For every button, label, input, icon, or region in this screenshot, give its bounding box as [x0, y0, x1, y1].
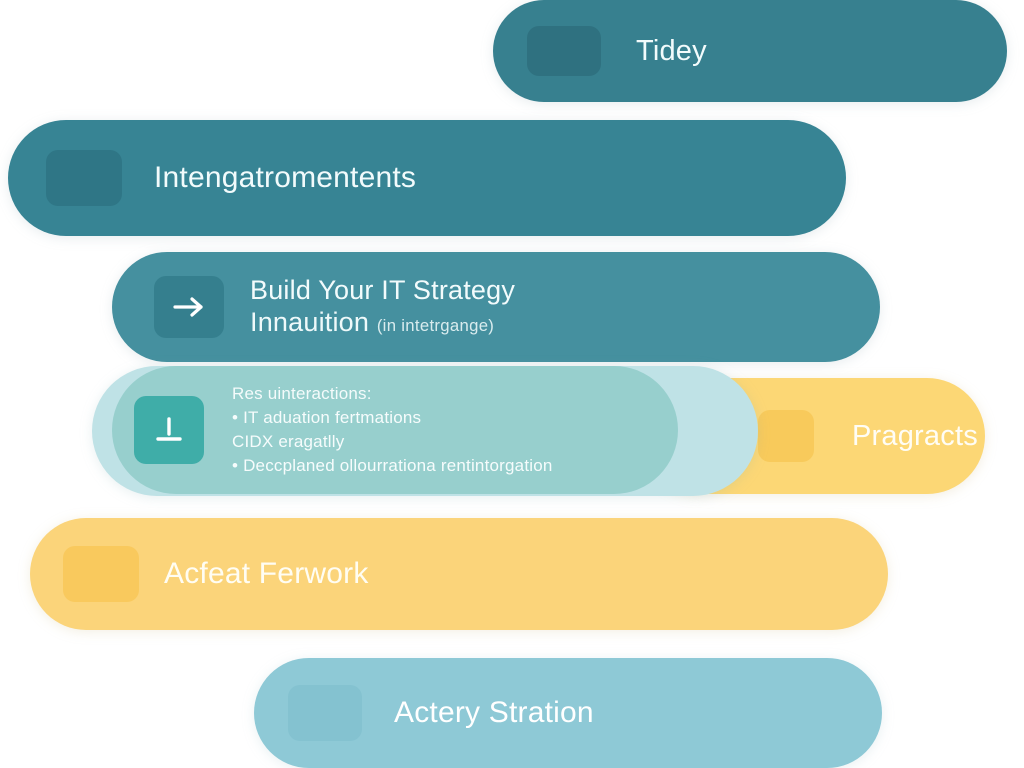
bar-strategy-subtitle: Innauition (in intetrgange) — [250, 307, 880, 339]
bar-actery-title: Actery Stration — [394, 696, 882, 730]
bar-tidey-text: Tidey — [601, 35, 1007, 68]
bar-actery-text: Actery Stration — [362, 696, 882, 730]
bar-results[interactable]: Res uinteractions: • IT aduation fertmat… — [112, 366, 678, 494]
bar-results-line-1: • IT aduation fertmations — [232, 406, 678, 430]
bar-strategy-subtitle-paren: (in intetrgange) — [377, 316, 494, 335]
bar-strategy[interactable]: Build Your IT Strategy Innauition (in in… — [112, 252, 880, 362]
rounded-square-icon — [527, 26, 601, 76]
bar-framework-text: Acfeat Ferwork — [139, 557, 888, 591]
bar-tidey-title: Tidey — [636, 35, 1007, 68]
arrow-right-icon — [154, 276, 224, 338]
rounded-square-icon — [288, 685, 362, 741]
bar-results-line-3: • Deccplaned ollourrationa rentintorgati… — [232, 454, 678, 478]
bar-framework[interactable]: Acfeat Ferwork — [30, 518, 888, 630]
bar-integration[interactable]: Intengatromentents — [8, 120, 846, 236]
rounded-square-icon — [758, 410, 814, 462]
download-bar-icon — [134, 396, 204, 464]
bar-actery[interactable]: Actery Stration — [254, 658, 882, 768]
rounded-square-icon — [63, 546, 139, 602]
bar-tidey[interactable]: Tidey — [493, 0, 1007, 102]
bar-results-heading: Res uinteractions: — [232, 382, 678, 406]
bar-strategy-text: Build Your IT Strategy Innauition (in in… — [250, 275, 880, 339]
infographic-canvas: Tidey Intengatromentents Build Your IT S… — [0, 0, 1024, 768]
bar-framework-title: Acfeat Ferwork — [164, 557, 888, 591]
bar-strategy-title: Build Your IT Strategy — [250, 275, 880, 307]
bar-integration-title: Intengatromentents — [154, 161, 846, 195]
bar-pragracts-text: Pragracts — [814, 420, 985, 453]
rounded-square-icon — [46, 150, 122, 206]
bar-results-line-2: CIDX eragatlly — [232, 430, 678, 454]
bar-integration-text: Intengatromentents — [122, 161, 846, 195]
bar-pragracts-title: Pragracts — [852, 420, 985, 453]
bar-results-text: Res uinteractions: • IT aduation fertmat… — [232, 382, 678, 479]
bar-strategy-subtitle-main: Innauition — [250, 307, 369, 337]
